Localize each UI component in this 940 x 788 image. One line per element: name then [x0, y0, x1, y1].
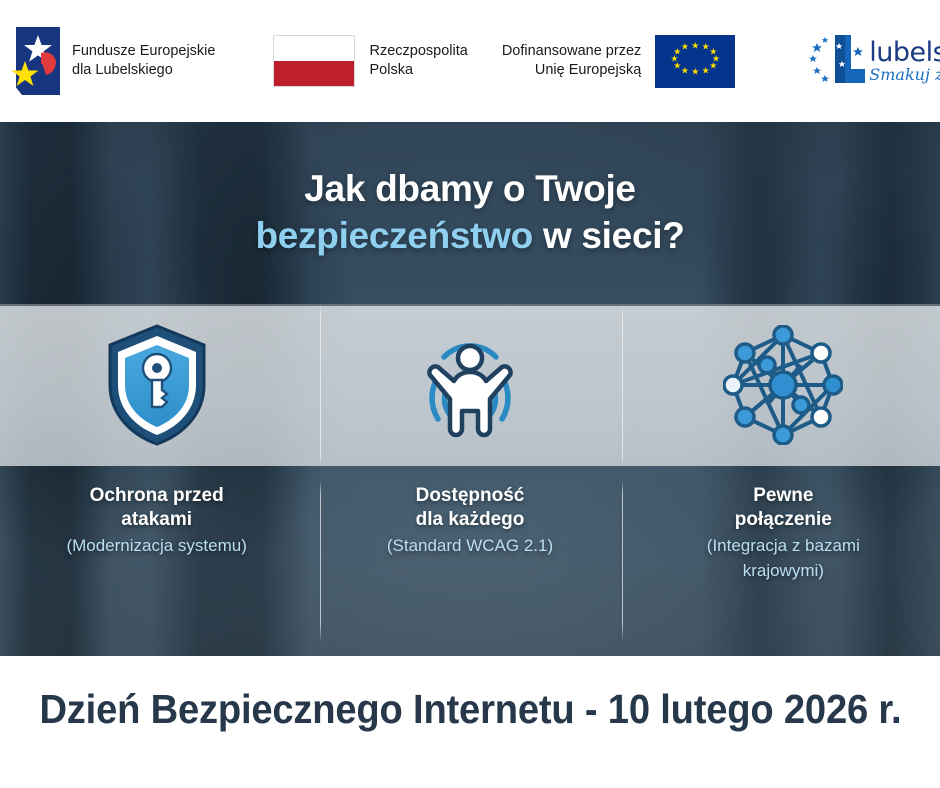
logo-fundusze-line1: Fundusze Europejskie: [72, 42, 215, 61]
logo-polska-line2: Polska: [369, 61, 467, 80]
eu-flag-icon: ★ ★ ★ ★ ★ ★ ★ ★ ★ ★ ★ ★: [655, 35, 735, 88]
lubelskie-name: lubelskie: [869, 39, 940, 66]
feature-column-dostepnosc: Dostępność dla każdego (Standard WCAG 2.…: [313, 304, 626, 656]
column-divider-2: [622, 304, 623, 642]
logo-lubelskie: lubelskie Smakuj życie!: [809, 0, 940, 122]
logo-ue-text: Dofinansowane przez Unię Europejską: [502, 42, 641, 80]
logo-polska-line1: Rzeczpospolita: [369, 42, 467, 61]
logo-bar: Fundusze Europejskie dla Lubelskiego Rze…: [0, 0, 940, 122]
feature-text-dostepnosc: Dostępność dla każdego (Standard WCAG 2.…: [313, 466, 626, 556]
bottom-banner: Dzień Bezpiecznego Internetu - 10 lutego…: [0, 656, 940, 788]
feature-subtitle-line1: (Integracja z bazami: [627, 535, 940, 556]
bottom-banner-text: Dzień Bezpiecznego Internetu - 10 lutego…: [39, 686, 901, 733]
headline-rest: w sieci?: [533, 215, 685, 256]
feature-column-ochrona: Ochrona przed atakami (Modernizacja syst…: [0, 304, 313, 656]
lubelskie-l-mark: [809, 33, 867, 89]
logo-ue-line1: Dofinansowane przez: [502, 42, 641, 61]
feature-title-line1: Dostępność: [313, 484, 626, 508]
logo-fundusze-line2: dla Lubelskiego: [72, 61, 215, 80]
headline-accent-word: bezpieczeństwo: [255, 215, 532, 256]
lubelskie-wordmark: lubelskie Smakuj życie!: [869, 39, 940, 83]
feature-subtitle: (Modernizacja systemu): [0, 535, 313, 556]
accessibility-person-icon: [408, 304, 532, 466]
hero-headline: Jak dbamy o Twoje bezpieczeństwo w sieci…: [0, 122, 940, 304]
poster-root: Fundusze Europejskie dla Lubelskiego Rze…: [0, 0, 940, 788]
logo-polska-text: Rzeczpospolita Polska: [369, 42, 467, 80]
logo-fundusze-text: Fundusze Europejskie dla Lubelskiego: [72, 42, 215, 80]
logo-fundusze-europejskie: Fundusze Europejskie dla Lubelskiego: [8, 0, 215, 122]
feature-columns: Ochrona przed atakami (Modernizacja syst…: [0, 304, 940, 656]
feature-text-polaczenie: Pewne połączenie (Integracja z bazami kr…: [627, 466, 940, 581]
logo-unia-europejska: Dofinansowane przez Unię Europejską ★ ★ …: [502, 0, 735, 122]
feature-title-line2: dla każdego: [313, 508, 626, 532]
headline-line-2: bezpieczeństwo w sieci?: [255, 215, 684, 258]
feature-text-ochrona: Ochrona przed atakami (Modernizacja syst…: [0, 466, 313, 556]
eu-funds-stars-mark: [8, 27, 60, 95]
feature-column-polaczenie: Pewne połączenie (Integracja z bazami kr…: [627, 304, 940, 656]
headline-line-1: Jak dbamy o Twoje: [304, 168, 635, 211]
feature-subtitle-line2: krajowymi): [627, 560, 940, 581]
feature-title-line1: Ochrona przed: [0, 484, 313, 508]
feature-title-line2: atakami: [0, 508, 313, 532]
logo-rzeczpospolita-polska: Rzeczpospolita Polska: [273, 0, 467, 122]
feature-title-line2: połączenie: [627, 508, 940, 532]
poland-flag-icon: [273, 35, 355, 87]
logo-ue-line2: Unię Europejską: [502, 61, 641, 80]
feature-subtitle: (Standard WCAG 2.1): [313, 535, 626, 556]
lubelskie-slogan: Smakuj życie!: [869, 67, 940, 83]
column-divider-1: [320, 304, 321, 642]
hero-section: Jak dbamy o Twoje bezpieczeństwo w sieci…: [0, 122, 940, 656]
feature-title-line1: Pewne: [627, 484, 940, 508]
network-nodes-icon: [723, 304, 843, 466]
shield-key-icon: [105, 304, 209, 466]
